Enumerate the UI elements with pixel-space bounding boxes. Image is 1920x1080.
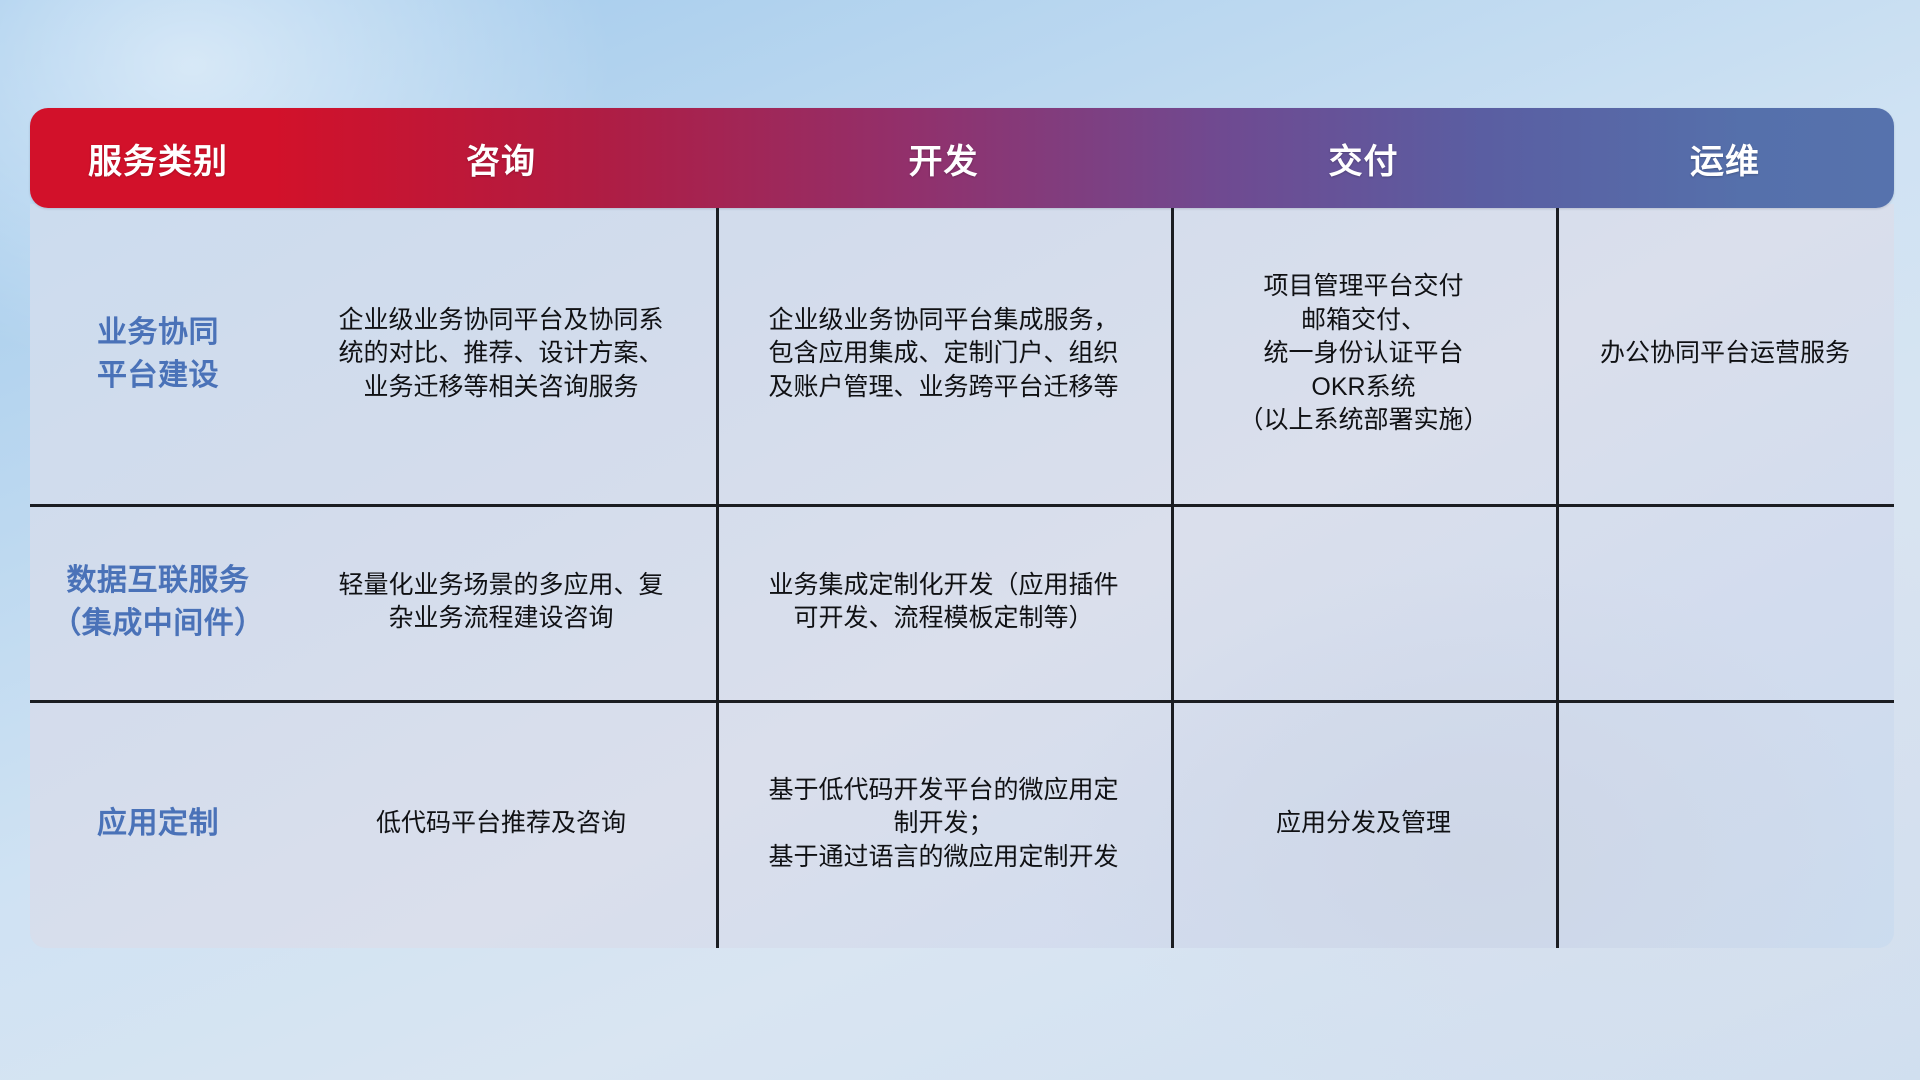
slide-canvas: 服务类别 咨询 开发 交付 运维 业务协同 平台建设 企业级业务协同平台及协同系… <box>0 0 1920 1080</box>
cell-delivery <box>1171 504 1556 700</box>
cell-delivery: 项目管理平台交付 邮箱交付、 统一身份认证平台 OKR系统 （以上系统部署实施） <box>1171 204 1556 504</box>
cell-consulting: 低代码平台推荐及咨询 <box>286 700 716 948</box>
table-row: 应用定制 低代码平台推荐及咨询 基于低代码开发平台的微应用定 制开发； 基于通过… <box>30 700 1894 948</box>
cell-consulting: 企业级业务协同平台及协同系 统的对比、推荐、设计方案、 业务迁移等相关咨询服务 <box>286 204 716 504</box>
cell-operations: 办公协同平台运营服务 <box>1556 204 1894 504</box>
cell-operations <box>1556 504 1894 700</box>
cell-delivery: 应用分发及管理 <box>1171 700 1556 948</box>
table-row: 业务协同 平台建设 企业级业务协同平台及协同系 统的对比、推荐、设计方案、 业务… <box>30 204 1894 504</box>
column-divider-2 <box>1171 204 1174 948</box>
table-row: 数据互联服务 （集成中间件） 轻量化业务场景的多应用、复 杂业务流程建设咨询 业… <box>30 504 1894 700</box>
cell-development: 业务集成定制化开发（应用插件 可开发、流程模板定制等） <box>716 504 1171 700</box>
cell-development: 企业级业务协同平台集成服务， 包含应用集成、定制门户、组织 及账户管理、业务跨平… <box>716 204 1171 504</box>
table-header-row: 服务类别 咨询 开发 交付 运维 <box>30 108 1894 208</box>
cell-category: 应用定制 <box>30 700 286 948</box>
column-header-delivery: 交付 <box>1171 134 1556 183</box>
column-header-category: 服务类别 <box>30 134 286 183</box>
cell-category: 数据互联服务 （集成中间件） <box>30 504 286 700</box>
service-matrix-table: 服务类别 咨询 开发 交付 运维 业务协同 平台建设 企业级业务协同平台及协同系… <box>30 108 1894 948</box>
column-divider-1 <box>716 204 719 948</box>
cell-consulting: 轻量化业务场景的多应用、复 杂业务流程建设咨询 <box>286 504 716 700</box>
column-header-consulting: 咨询 <box>286 134 716 183</box>
cell-category: 业务协同 平台建设 <box>30 204 286 504</box>
column-divider-3 <box>1556 204 1559 948</box>
column-header-development: 开发 <box>716 134 1171 183</box>
cell-operations <box>1556 700 1894 948</box>
column-header-operations: 运维 <box>1556 134 1894 183</box>
table-body: 业务协同 平台建设 企业级业务协同平台及协同系 统的对比、推荐、设计方案、 业务… <box>30 204 1894 948</box>
cell-development: 基于低代码开发平台的微应用定 制开发； 基于通过语言的微应用定制开发 <box>716 700 1171 948</box>
